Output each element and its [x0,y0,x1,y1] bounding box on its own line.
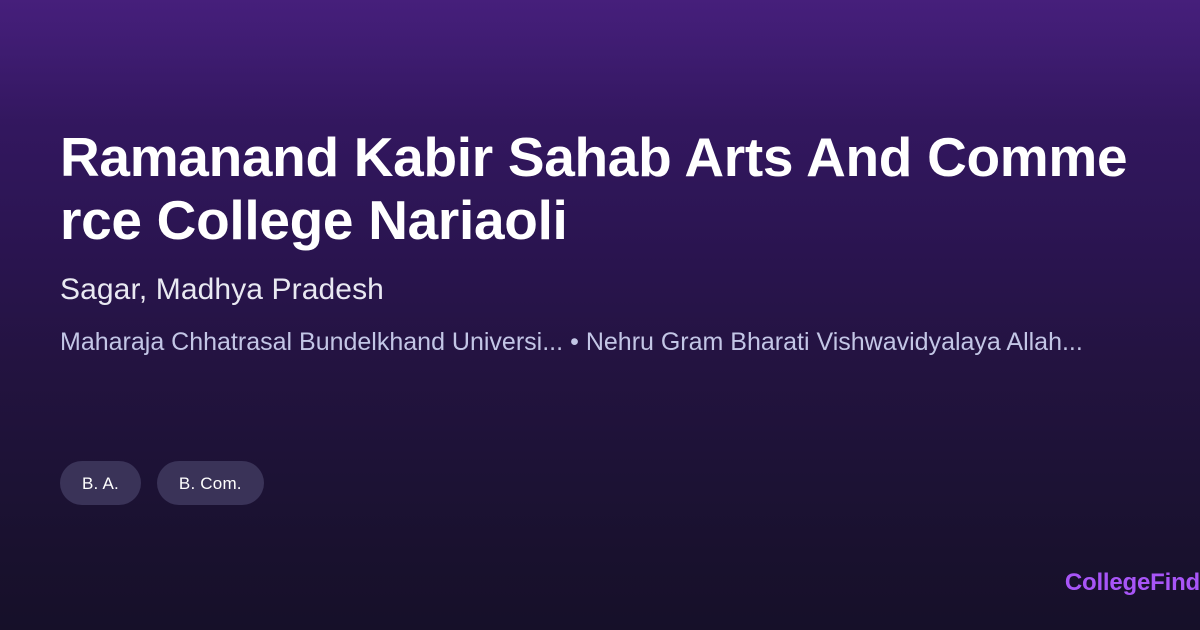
affiliated-university-1: Maharaja Chhatrasal Bundelkhand Universi… [60,328,563,356]
affiliation-separator: • [563,328,586,356]
affiliated-universities: Maharaja Chhatrasal Bundelkhand Universi… [60,327,1182,358]
college-title: Ramanand Kabir Sahab Arts And Commerce C… [60,126,1130,252]
brand-wordmark: CollegeFind [1065,569,1200,597]
course-pill-list: B. A. B. Com. [60,461,264,505]
course-pill-ba[interactable]: B. A. [60,461,141,505]
affiliated-university-2: Nehru Gram Bharati Vishwavidyalaya Allah… [586,328,1083,356]
course-pill-bcom[interactable]: B. Com. [157,461,264,505]
college-location: Sagar, Madhya Pradesh [60,272,384,308]
og-preview-card: Ramanand Kabir Sahab Arts And Commerce C… [0,0,1200,630]
card-content: Ramanand Kabir Sahab Arts And Commerce C… [60,0,1200,630]
